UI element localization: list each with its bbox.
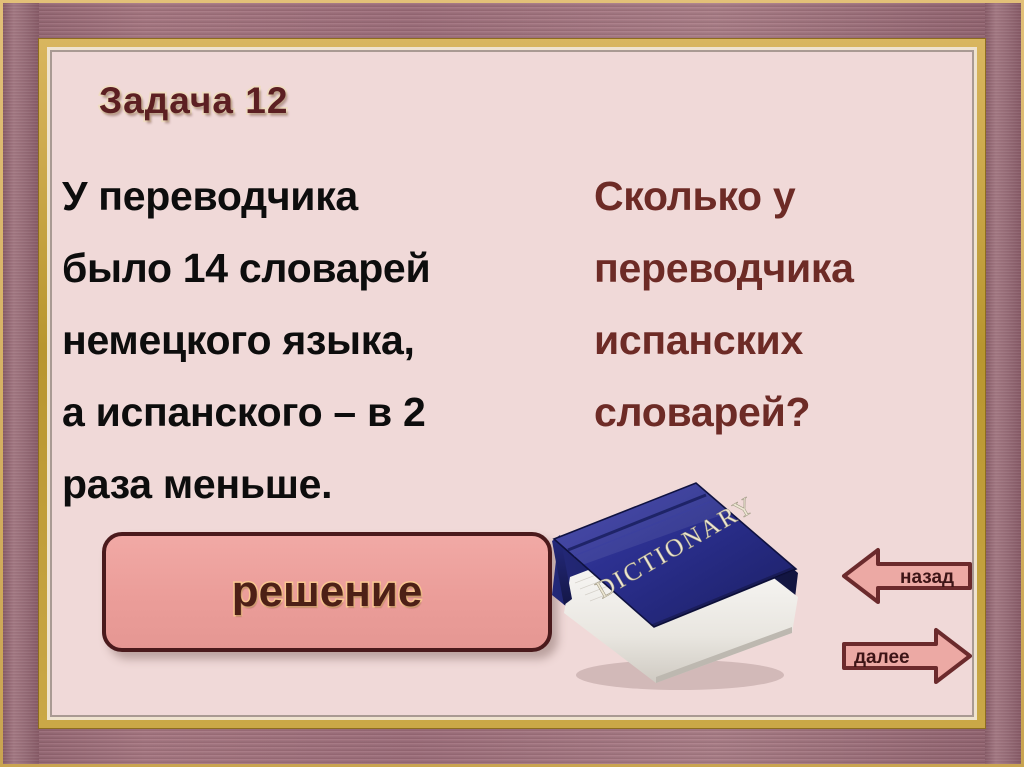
slide: Задача 12 У переводчика было 14 словарей…	[0, 0, 1024, 767]
problem-line: раза меньше.	[62, 448, 582, 520]
nav-back-button[interactable]: назад	[842, 547, 972, 605]
problem-line: было 14 словарей	[62, 232, 582, 304]
problem-statement: У переводчика было 14 словарей немецкого…	[62, 160, 582, 520]
problem-line: У переводчика	[62, 160, 582, 232]
question-line: словарей?	[594, 376, 972, 448]
problem-line: а испанского – в 2	[62, 376, 582, 448]
solution-button[interactable]: решение	[102, 532, 552, 652]
solution-button-label: решение	[232, 567, 423, 617]
question-text: Сколько у переводчика испанских словарей…	[594, 160, 972, 448]
frame-wood-rail-left	[3, 3, 39, 764]
nav-next-button[interactable]: далее	[842, 627, 972, 685]
problem-line: немецкого языка,	[62, 304, 582, 376]
page-title: Задача 12	[99, 80, 288, 122]
question-line: Сколько у	[594, 160, 972, 232]
book-cover-label: DICTIONARY	[592, 491, 761, 604]
frame-wood-rail-right	[985, 3, 1021, 764]
nav-next-label: далее	[854, 647, 910, 668]
question-line: испанских	[594, 304, 972, 376]
question-line: переводчика	[594, 232, 972, 304]
nav-back-label: назад	[900, 567, 954, 588]
slide-content-area: Задача 12 У переводчика было 14 словарей…	[52, 52, 972, 715]
